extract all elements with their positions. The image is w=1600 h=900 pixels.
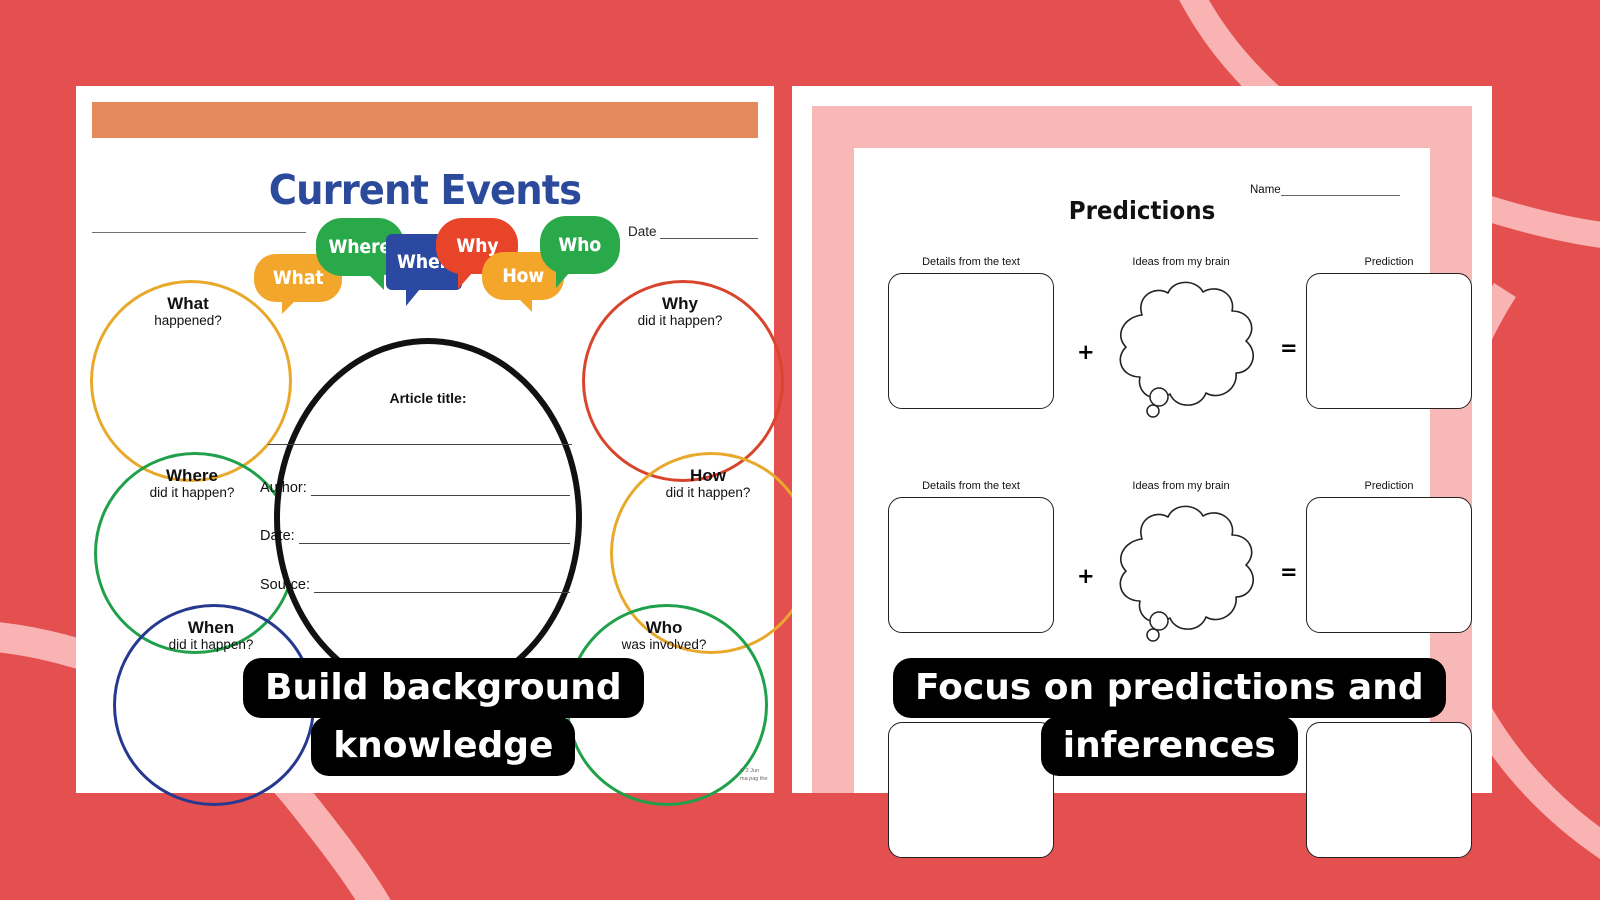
speech-bubble-where-label: Where [329,236,392,258]
details-box-1[interactable] [888,273,1054,409]
source-field[interactable]: Source: [260,577,570,593]
slide-canvas: Current Events Date What Where When Why [0,0,1600,900]
author-label: Author: [260,480,307,496]
article-title-rule[interactable] [268,444,572,445]
date-label: Date [628,224,657,239]
details-column-1: Details from the text [888,256,1054,409]
prediction-row-2: Details from the text + Ideas from my br… [882,480,1404,650]
prediction-label-1: Prediction [1306,256,1472,268]
ideas-column-2: Ideas from my brain [1096,480,1266,649]
ideas-label-2: Ideas from my brain [1096,480,1266,492]
speech-bubble-cluster: What Where When Why How Who [254,216,619,326]
prediction-box-2[interactable] [1306,497,1472,633]
predictions-title: Predictions [877,196,1407,225]
speech-bubble-who-label: Who [559,234,602,256]
details-column-2: Details from the text [888,480,1054,633]
date-field-center[interactable]: Date: [260,528,570,544]
details-label-2: Details from the text [888,480,1054,492]
plus-operator-1: + [1077,340,1095,364]
circle-how-question: did it happen? [610,485,806,500]
caption-left: Build background knowledge [243,658,644,776]
thought-bubble-1[interactable] [1096,273,1266,425]
prediction-label-2: Prediction [1306,480,1472,492]
date-label-center: Date: [260,528,295,544]
worksheet-title: Current Events [97,166,753,214]
prediction-row-1: Details from the text + Ideas from my br… [882,256,1404,426]
caption-right: Focus on predictions and inferences [893,658,1446,776]
date-rule-center [299,531,570,544]
author-rule [311,483,570,496]
date-rule [660,227,758,239]
caption-left-line2: knowledge [311,716,575,776]
ideas-label-1: Ideas from my brain [1096,256,1266,268]
circle-why-label: Why did it happen? [582,294,778,328]
name-field[interactable]: Name [1250,184,1400,196]
name-rule-right [1281,186,1400,196]
speech-bubble-how-label: How [502,265,544,287]
circle-why-question: did it happen? [582,313,778,328]
source-rule [314,580,570,593]
circle-who-label: Who was involved? [566,618,762,652]
details-label-1: Details from the text [888,256,1054,268]
prediction-box-1[interactable] [1306,273,1472,409]
date-field[interactable]: Date [628,224,758,239]
circle-what-label: What happened? [90,294,286,328]
copyright-notice: © 2 Jun ma pag the [740,767,768,784]
name-label: Name [1250,184,1281,196]
caption-right-line2: inferences [1041,716,1298,776]
circle-what-question: happened? [90,313,286,328]
caption-left-line1: Build background [243,658,644,718]
ideas-column-1: Ideas from my brain [1096,256,1266,425]
plus-operator-2: + [1077,564,1095,588]
prediction-column-1: Prediction [1306,256,1472,409]
source-label: Source: [260,577,310,593]
center-fields: Article title: Author: Date: Source: [274,338,582,698]
speech-bubble-what-label: What [273,267,324,289]
speech-bubble-who: Who [540,216,620,274]
circle-what-word: What [90,294,286,313]
circle-how-label: How did it happen? [610,466,806,500]
details-box-2[interactable] [888,497,1054,633]
circle-who-word: Who [566,618,762,637]
equals-operator-2: = [1280,560,1298,584]
prediction-column-2: Prediction [1306,480,1472,633]
circle-who-question: was involved? [566,637,762,652]
circle-how-word: How [610,466,806,485]
author-field[interactable]: Author: [260,480,570,496]
circle-why-word: Why [582,294,778,313]
thought-bubble-2[interactable] [1096,497,1266,649]
article-title-label: Article title: [274,390,582,406]
speech-bubble-why-label: Why [456,235,498,257]
header-bar [92,102,758,138]
equals-operator-1: = [1280,336,1298,360]
caption-right-line1: Focus on predictions and [893,658,1446,718]
